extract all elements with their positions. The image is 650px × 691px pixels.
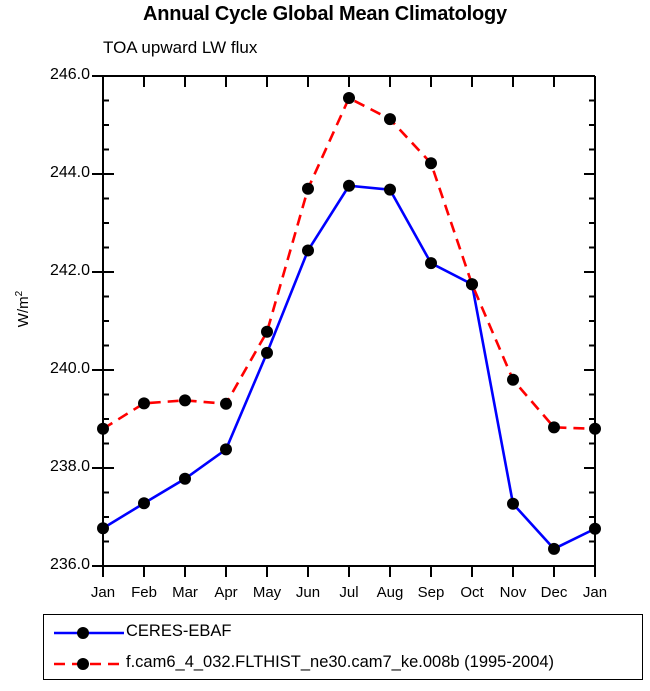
legend-label: f.cam6_4_032.FLTHIST_ne30.cam7_ke.008b (… (126, 653, 554, 672)
y-tick-label: 242.0 (18, 262, 90, 280)
legend-item[interactable]: CERES-EBAF (44, 619, 642, 649)
legend-item[interactable]: f.cam6_4_032.FLTHIST_ne30.cam7_ke.008b (… (44, 650, 642, 680)
axis-ticks (92, 76, 595, 577)
y-tick-label: 236.0 (18, 556, 90, 574)
data-series (97, 92, 601, 555)
y-tick-label: 246.0 (18, 66, 90, 84)
y-tick-label: 238.0 (18, 458, 90, 476)
legend: CERES-EBAFf.cam6_4_032.FLTHIST_ne30.cam7… (43, 614, 643, 680)
chart-page: Annual Cycle Global Mean Climatology TOA… (0, 0, 650, 691)
y-tick-label: 240.0 (18, 360, 90, 378)
legend-label: CERES-EBAF (126, 622, 231, 641)
y-tick-label: 244.0 (18, 164, 90, 182)
x-tick-label: Jan (565, 584, 625, 601)
axis-frame (103, 76, 595, 566)
legend-swatch (50, 650, 130, 678)
legend-swatch (50, 619, 130, 647)
